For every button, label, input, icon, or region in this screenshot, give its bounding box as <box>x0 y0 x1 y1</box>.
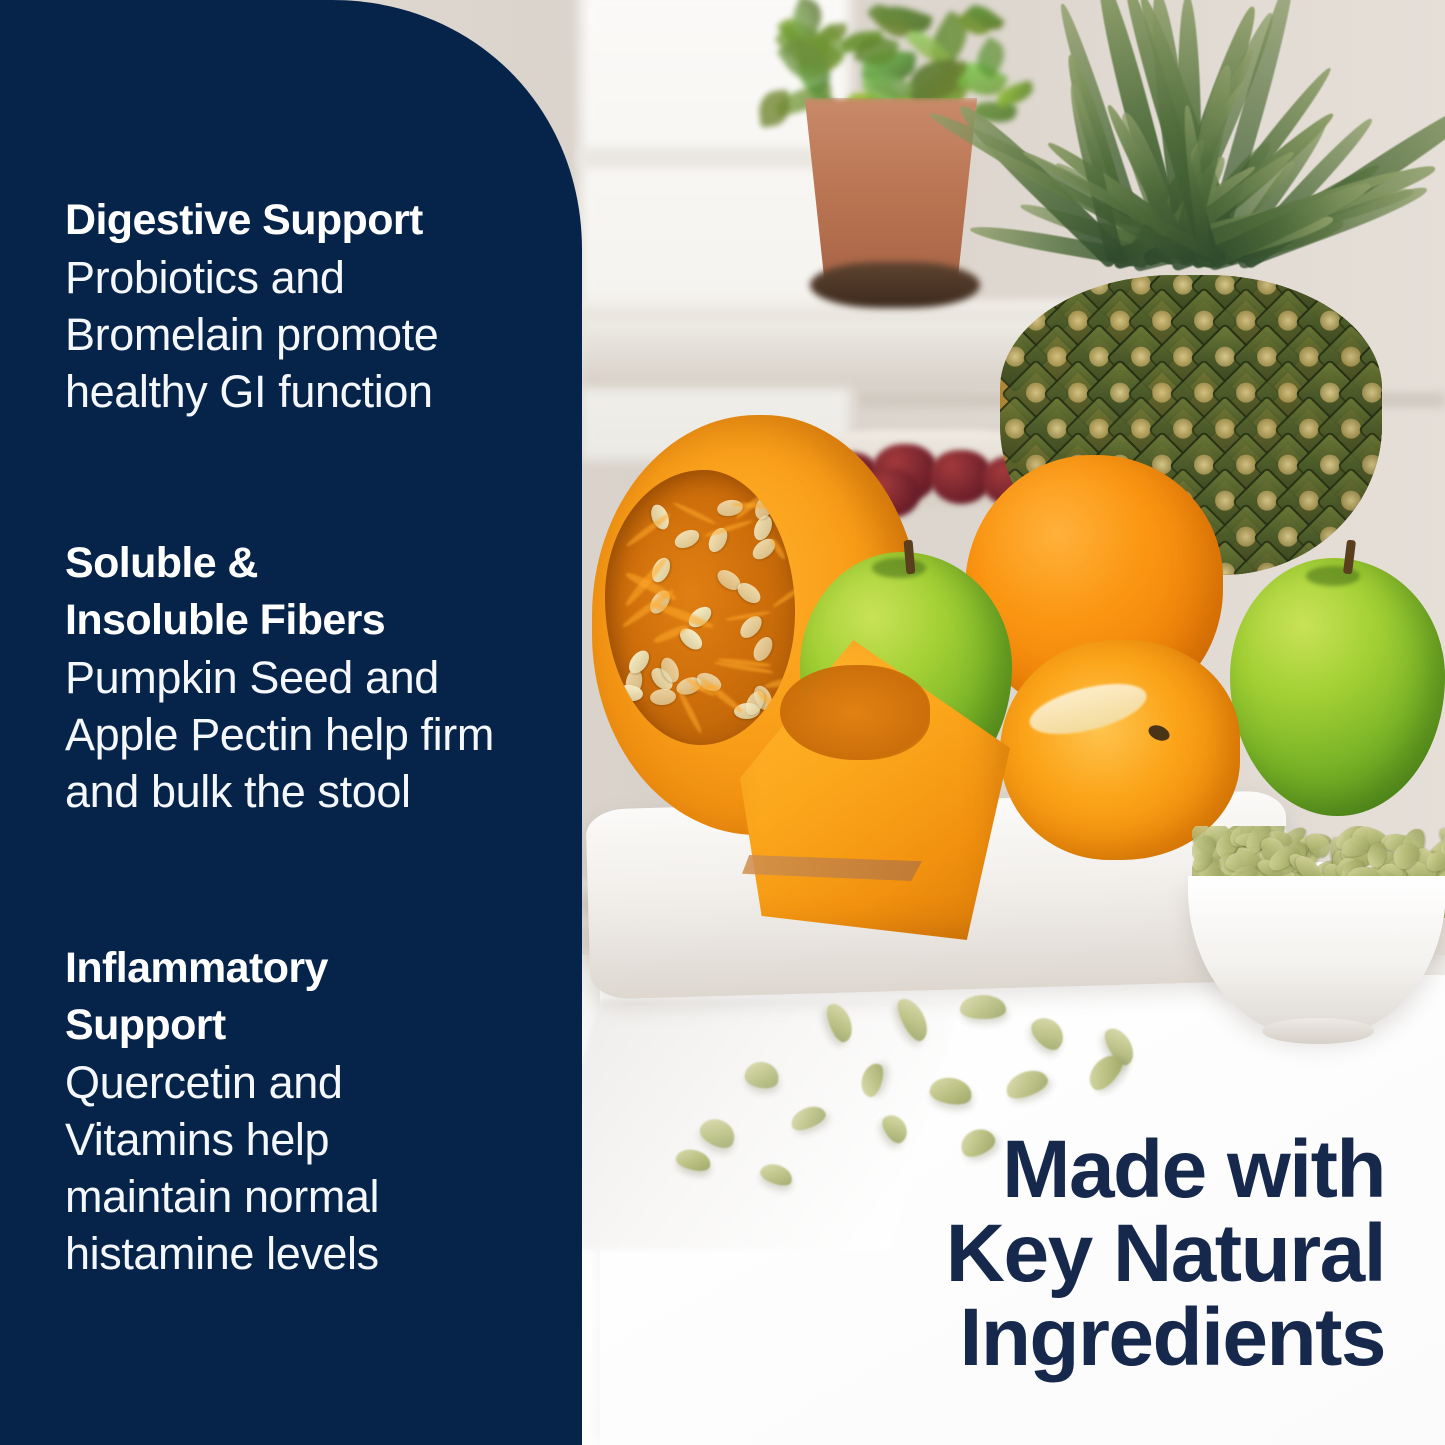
benefit-digestive-support: Digestive Support Probiotics and Bromela… <box>65 192 565 420</box>
benefit-body: Probiotics and Bromelain promote healthy… <box>65 249 565 420</box>
pumpkin-seed <box>734 579 764 607</box>
bowl-foot <box>1262 1018 1374 1044</box>
pineapple-crown <box>965 0 1425 320</box>
pumpkin-seed <box>960 995 1006 1019</box>
apple-dimple <box>872 558 926 578</box>
benefit-soluble-insoluble-fibers: Soluble & Insoluble Fibers Pumpkin Seed … <box>65 535 565 820</box>
benefits-list: Digestive Support Probiotics and Bromela… <box>0 0 582 1445</box>
pumpkin-pulp-strand <box>771 573 795 609</box>
pumpkin-seed-cavity <box>605 470 795 745</box>
infographic-canvas: Digestive Support Probiotics and Bromela… <box>0 0 1445 1445</box>
benefit-title: Inflammatory Support <box>65 940 565 1054</box>
benefit-title: Digestive Support <box>65 192 565 249</box>
pumpkin-seed <box>649 688 676 706</box>
window-frame <box>580 148 842 168</box>
basil-leaf <box>757 89 792 128</box>
benefit-body: Quercetin and Vitamins help maintain nor… <box>65 1054 565 1282</box>
pumpkin-seed <box>672 526 702 551</box>
pumpkin-pulp-strand <box>700 676 745 714</box>
benefits-panel: Digestive Support Probiotics and Bromela… <box>0 0 582 1445</box>
pumpkin-pulp-strand <box>672 501 717 526</box>
pot-saucer <box>810 262 980 308</box>
benefit-body: Pumpkin Seed and Apple Pectin help firm … <box>65 649 565 820</box>
headline: Made with Key Natural Ingredients <box>765 1128 1385 1380</box>
pumpkin-wedge-pulp <box>780 665 930 760</box>
benefit-inflammatory-support: Inflammatory Support Quercetin and Vitam… <box>65 940 565 1282</box>
pumpkin-pulp-strand <box>677 689 704 735</box>
pumpkin-pulp-strand <box>624 512 671 549</box>
benefit-title: Soluble & Insoluble Fibers <box>65 535 565 649</box>
pumpkin-seed <box>750 634 777 664</box>
